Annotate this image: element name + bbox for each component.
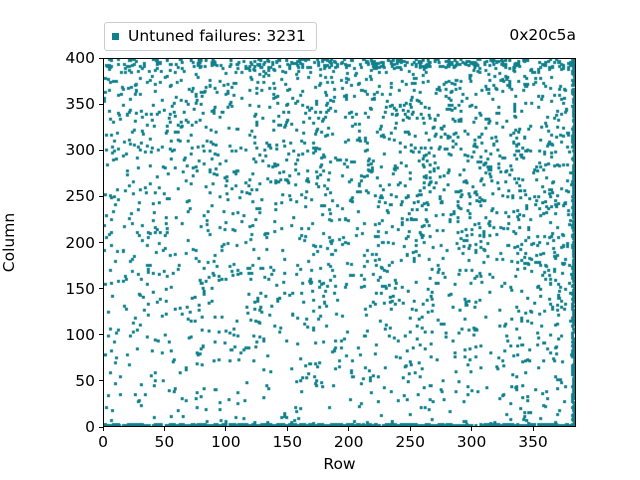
legend-marker-icon	[112, 33, 119, 40]
x-tick-label: 150	[272, 433, 302, 451]
x-tick	[225, 427, 226, 431]
y-tick-label: 200	[65, 234, 95, 252]
y-tick	[99, 242, 103, 243]
x-tick	[348, 427, 349, 431]
y-tick-label: 50	[75, 372, 95, 390]
y-tick-label: 350	[65, 95, 95, 113]
y-tick-label: 400	[65, 49, 95, 67]
plot-area	[103, 58, 576, 427]
y-tick-label: 100	[65, 326, 95, 344]
x-tick-label: 100	[211, 433, 241, 451]
y-tick-label: 250	[65, 187, 95, 205]
y-tick-label: 300	[65, 141, 95, 159]
x-tick	[471, 427, 472, 431]
chart-title: 0x20c5a	[509, 26, 576, 44]
x-tick-label: 200	[334, 433, 364, 451]
x-axis-label: Row	[103, 455, 576, 473]
x-tick	[103, 427, 104, 431]
x-tick-label: 300	[457, 433, 487, 451]
y-tick	[99, 104, 103, 105]
y-tick	[99, 58, 103, 59]
x-tick-label: 350	[518, 433, 548, 451]
y-tick	[99, 150, 103, 151]
scatter-points-canvas	[104, 59, 575, 426]
x-tick	[533, 427, 534, 431]
x-tick-label: 0	[98, 433, 108, 451]
y-tick	[99, 288, 103, 289]
y-tick	[99, 196, 103, 197]
x-tick-label: 50	[155, 433, 175, 451]
legend-entry-label: Untuned failures: 3231	[128, 27, 306, 46]
x-tick	[164, 427, 165, 431]
chart-legend: Untuned failures: 3231	[104, 22, 317, 51]
y-tick-label: 0	[85, 418, 95, 436]
y-tick-label: 150	[65, 280, 95, 298]
x-tick-label: 250	[395, 433, 425, 451]
x-tick	[410, 427, 411, 431]
scatter-figure: 0x20c5a Untuned failures: 3231 050100150…	[0, 0, 640, 480]
y-tick	[99, 427, 103, 428]
y-tick	[99, 380, 103, 381]
y-axis-label: Column	[0, 58, 22, 427]
x-tick	[287, 427, 288, 431]
y-tick	[99, 334, 103, 335]
